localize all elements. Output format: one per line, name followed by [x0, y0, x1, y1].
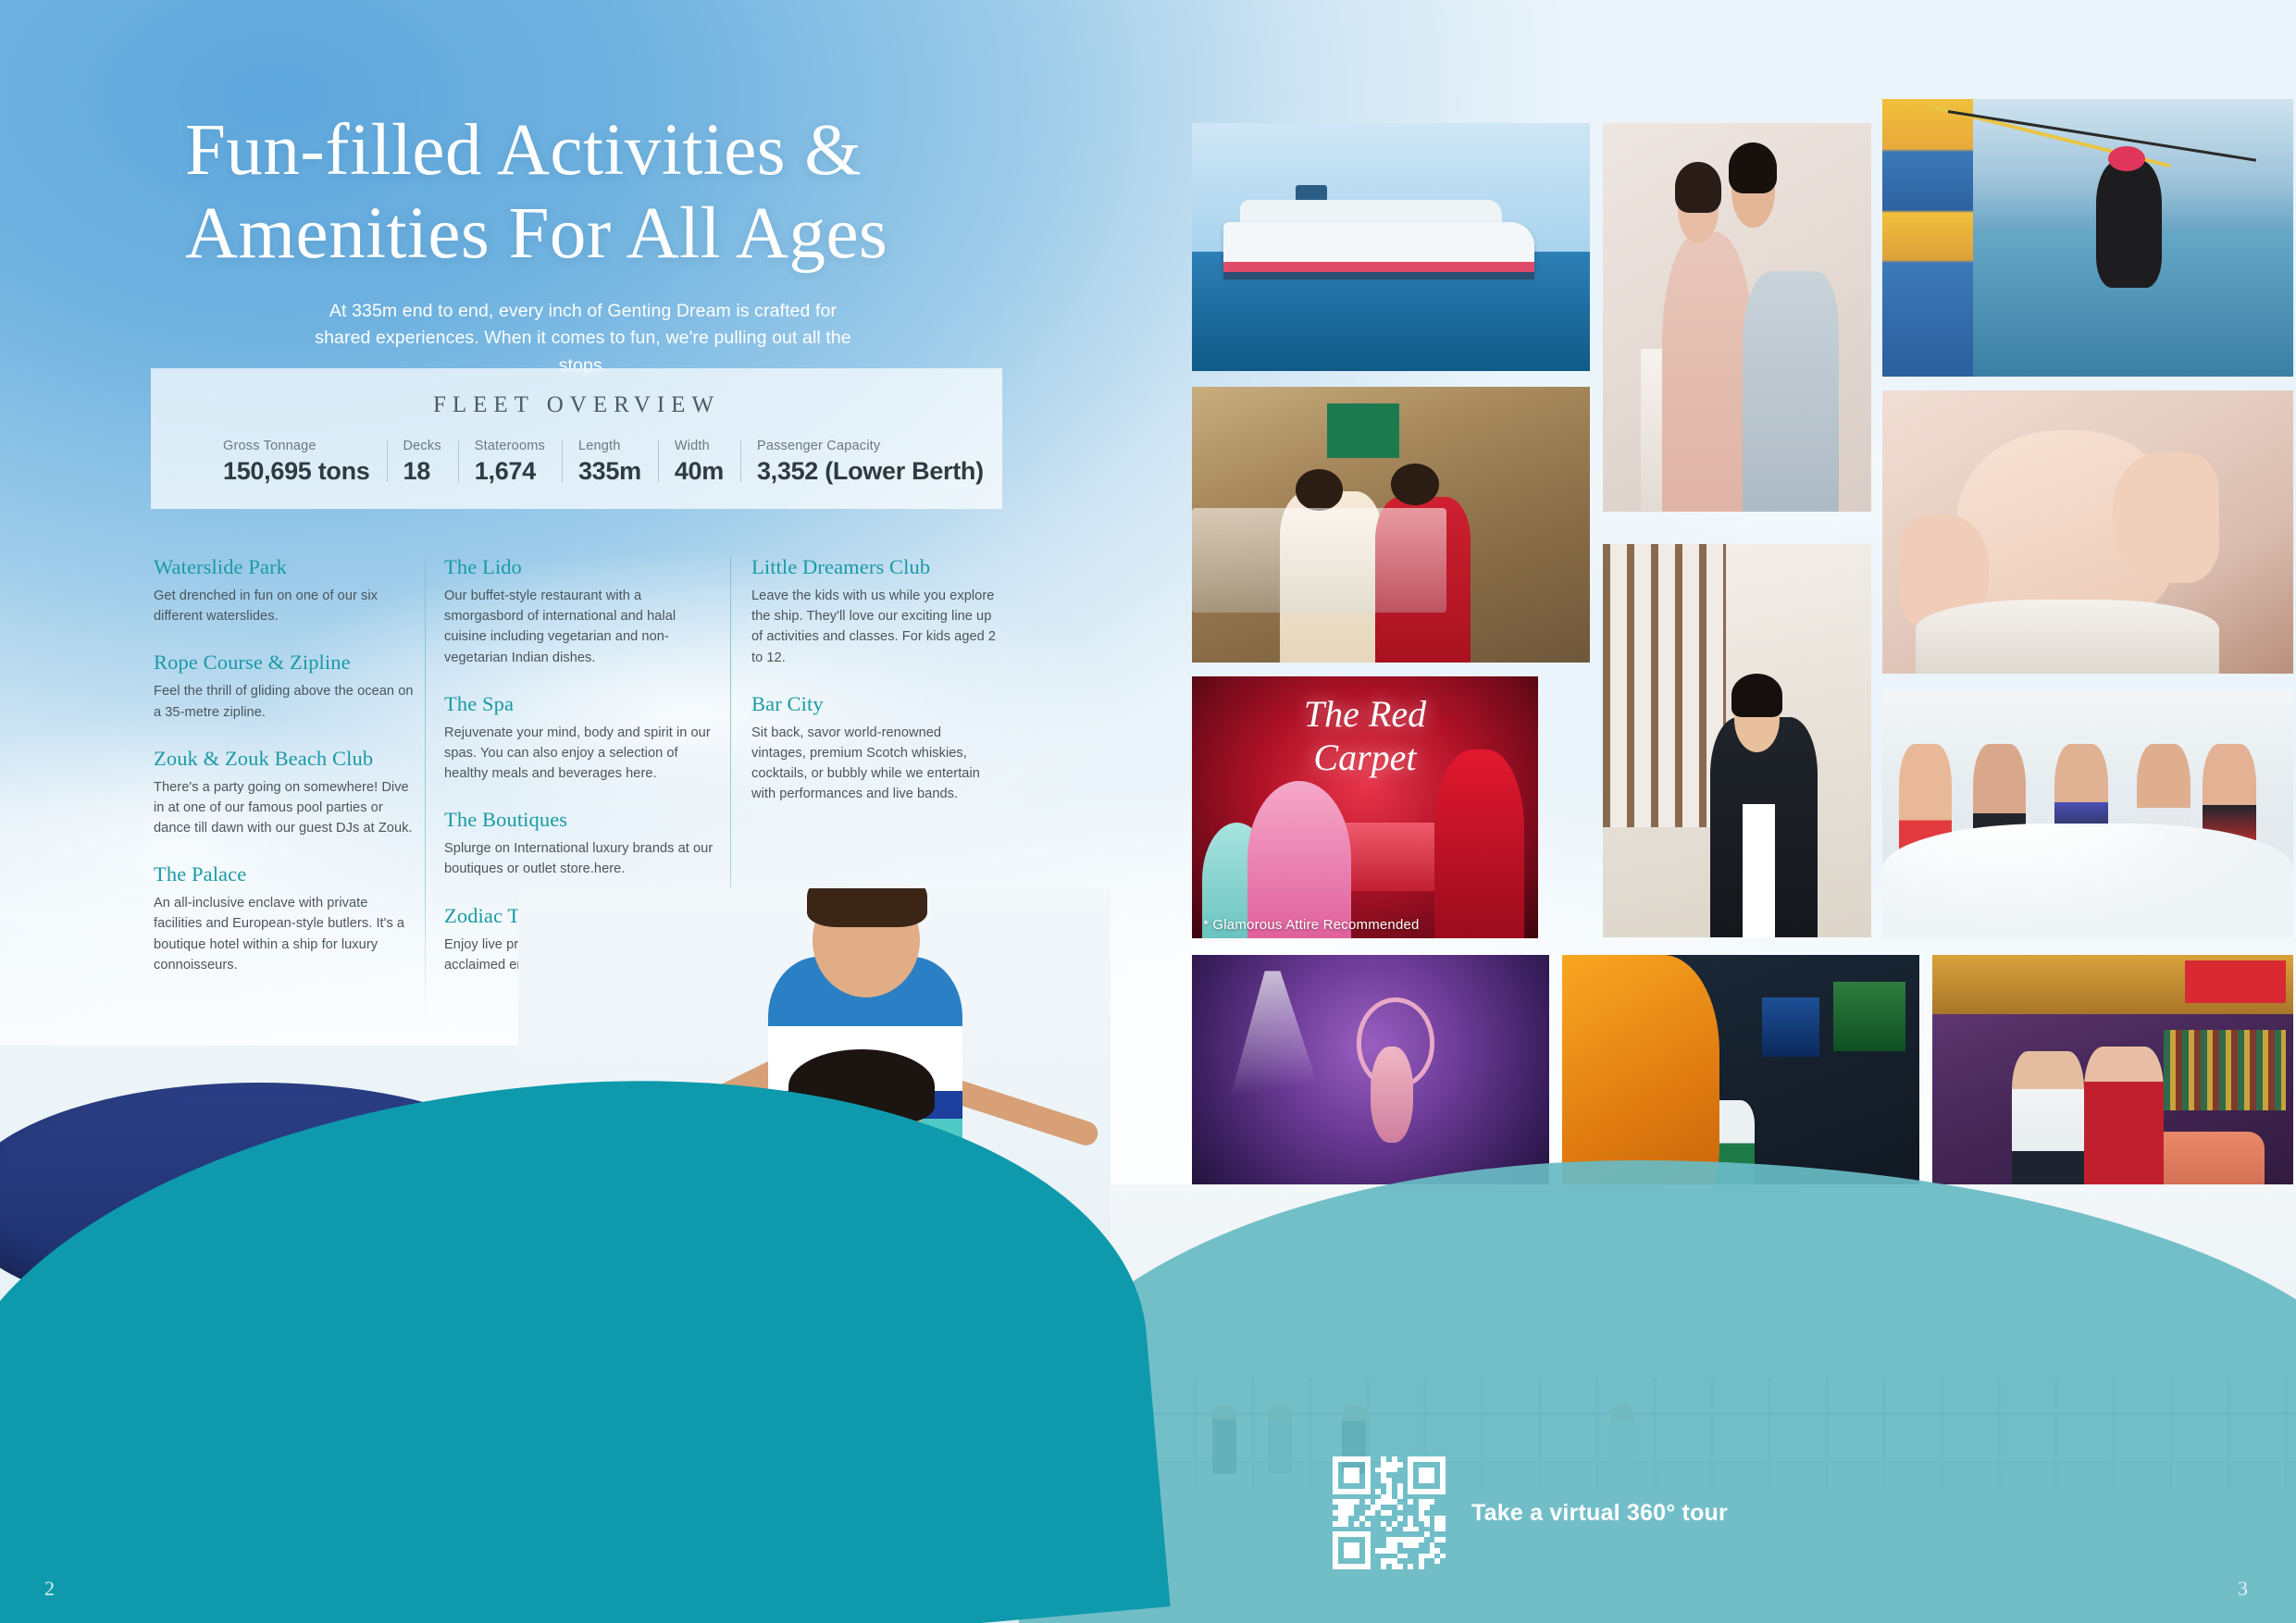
- stat-decks: Decks 18: [387, 439, 458, 486]
- headline-line-1: Fun-filled Activities &: [185, 109, 1018, 192]
- stat-label: Decks: [403, 439, 441, 453]
- stat-label: Passenger Capacity: [757, 439, 984, 453]
- amenity-title: The Boutiques: [444, 808, 720, 832]
- stat-label: Length: [578, 439, 641, 453]
- amenity-body: Leave the kids with us while you explore…: [751, 586, 998, 668]
- photo-spa: [1882, 390, 2293, 674]
- photo-bar-city: [1932, 955, 2293, 1223]
- red-carpet-show-title: The Red Carpet: [1254, 692, 1475, 765]
- qr-code[interactable]: [1333, 1456, 1446, 1569]
- stat-gross-tonnage: Gross Tonnage 150,695 tons: [206, 439, 387, 486]
- stat-passenger-capacity: Passenger Capacity 3,352 (Lower Berth): [740, 439, 1000, 486]
- virtual-tour-label: Take a virtual 360° tour: [1471, 1500, 1728, 1527]
- amenity-the-boutiques: The Boutiques Splurge on International l…: [444, 808, 720, 879]
- amenity-body: Get drenched in fun on one of our six di…: [154, 586, 415, 626]
- page-number-right: 3: [2238, 1577, 2248, 1601]
- stat-label: Staterooms: [475, 439, 545, 453]
- stat-value: 3,352 (Lower Berth): [757, 457, 984, 486]
- fleet-overview-panel: FLEET OVERVIEW Gross Tonnage 150,695 ton…: [151, 368, 1002, 509]
- amenity-zouk-beach-club: Zouk & Zouk Beach Club There's a party g…: [154, 747, 415, 839]
- amenity-body: There's a party going on somewhere! Dive…: [154, 777, 415, 839]
- stat-length: Length 335m: [562, 439, 658, 486]
- amenity-title: Bar City: [751, 692, 998, 716]
- photo-red-carpet: The Red Carpet * Glamorous Attire Recomm…: [1192, 676, 1538, 938]
- page-title: Fun-filled Activities & Amenities For Al…: [185, 109, 1018, 276]
- amenity-title: The Lido: [444, 555, 720, 579]
- stat-width: Width 40m: [658, 439, 740, 486]
- stat-staterooms: Staterooms 1,674: [458, 439, 562, 486]
- amenities-column-1: Waterslide Park Get drenched in fun on o…: [154, 555, 439, 999]
- photo-ship: [1192, 123, 1590, 371]
- glamorous-attire-caption: * Glamorous Attire Recommended: [1203, 917, 1420, 933]
- amenity-the-palace: The Palace An all-inclusive enclave with…: [154, 862, 415, 975]
- photo-butler: [1603, 544, 1871, 937]
- page-number-left: 2: [44, 1577, 55, 1601]
- amenity-title: Rope Course & Zipline: [154, 650, 415, 675]
- fleet-stats-row: Gross Tonnage 150,695 tons Decks 18 Stat…: [151, 418, 1002, 486]
- photo-shopping: [1603, 123, 1871, 512]
- amenity-waterslide-park: Waterslide Park Get drenched in fun on o…: [154, 555, 415, 626]
- fleet-overview-title: FLEET OVERVIEW: [151, 368, 1002, 418]
- stat-value: 335m: [578, 457, 641, 486]
- photo-buffet: [1192, 387, 1590, 663]
- stat-value: 150,695 tons: [223, 457, 370, 486]
- amenity-body: An all-inclusive enclave with private fa…: [154, 893, 415, 975]
- amenity-body: Sit back, savor world-renowned vintages,…: [751, 723, 998, 805]
- headline-line-2: Amenities For All Ages: [185, 192, 1018, 276]
- page-subtitle: At 335m end to end, every inch of Gentin…: [305, 298, 861, 379]
- amenity-body: Rejuvenate your mind, body and spirit in…: [444, 723, 720, 785]
- photo-foam-party: [1882, 689, 2293, 937]
- stat-label: Width: [675, 439, 724, 453]
- virtual-tour-cta[interactable]: Take a virtual 360° tour: [1333, 1456, 1728, 1569]
- amenity-title: Zouk & Zouk Beach Club: [154, 747, 415, 771]
- photo-zipline: [1882, 99, 2293, 377]
- amenity-title: The Spa: [444, 692, 720, 716]
- amenity-title: Waterslide Park: [154, 555, 415, 579]
- amenity-body: Our buffet-style restaurant with a smorg…: [444, 586, 720, 668]
- amenity-title: Little Dreamers Club: [751, 555, 998, 579]
- amenity-body: Feel the thrill of gliding above the oce…: [154, 681, 415, 722]
- amenity-body: Splurge on International luxury brands a…: [444, 838, 720, 879]
- stat-value: 18: [403, 457, 441, 486]
- stat-label: Gross Tonnage: [223, 439, 370, 453]
- amenity-little-dreamers-club: Little Dreamers Club Leave the kids with…: [751, 555, 998, 668]
- amenity-bar-city: Bar City Sit back, savor world-renowned …: [751, 692, 998, 805]
- amenity-title: The Palace: [154, 862, 415, 886]
- amenity-rope-course-zipline: Rope Course & Zipline Feel the thrill of…: [154, 650, 415, 722]
- amenity-the-spa: The Spa Rejuvenate your mind, body and s…: [444, 692, 720, 785]
- stat-value: 1,674: [475, 457, 545, 486]
- brochure-spread: Fun-filled Activities & Amenities For Al…: [0, 0, 2296, 1623]
- amenity-the-lido: The Lido Our buffet-style restaurant wit…: [444, 555, 720, 668]
- stat-value: 40m: [675, 457, 724, 486]
